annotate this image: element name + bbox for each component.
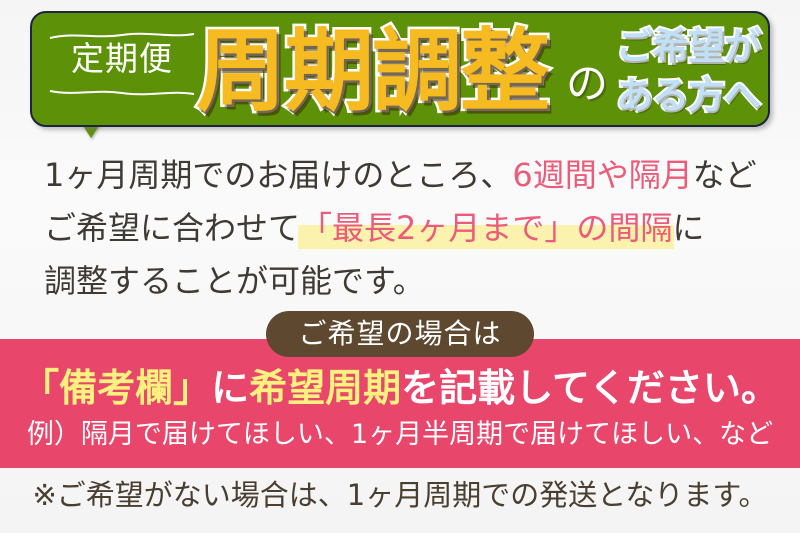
squiggle-bottom-decoration: [48, 88, 196, 96]
request-case-badge: ご希望の場合は: [266, 311, 534, 357]
pink-instruction-section: 「備考欄」に希望周期を記載してください。 例）隔月で届けてほしい、1ヶ月半周期で…: [0, 339, 800, 468]
intro-line1-prefix: 1ヶ月周期でのお届けのところ、: [44, 156, 512, 194]
pink-main-instruction: 「備考欄」に希望周期を記載してください。: [0, 366, 800, 410]
pink-example-text: 例）隔月で届けてほしい、1ヶ月半周期で届けてほしい、など: [0, 419, 800, 451]
header-title: 周期調整: [196, 22, 548, 122]
intro-line-3: 調整することが可能です。: [44, 263, 425, 299]
header-wish-line-2: ある方へ: [616, 71, 781, 120]
intro-line-2: ご希望に合わせて「最長2ヶ月まで」の間隔に: [44, 210, 704, 246]
footer-note: ※ご希望がない場合は、1ヶ月周期での発送となります。: [0, 478, 800, 512]
header-particle: の: [566, 62, 608, 106]
subscription-label: 定期便: [52, 42, 192, 75]
header-wish-line-1: ご希望が: [616, 22, 781, 71]
pink-particle-ni: に: [211, 366, 249, 410]
desired-cycle-label: 希望周期: [249, 366, 401, 410]
intro-line1-accent: 6週間や隔月: [512, 156, 692, 194]
pink-instruction-suffix: を記載してください。: [401, 366, 779, 410]
intro-line2-highlighted-accent: 「最長2ヶ月まで」の間隔: [300, 210, 672, 246]
intro-line-1: 1ヶ月周期でのお届けのところ、6週間や隔月など: [44, 157, 757, 193]
intro-paragraph: 1ヶ月周期でのお届けのところ、6週間や隔月など ご希望に合わせて「最長2ヶ月まで…: [0, 143, 800, 303]
subscription-label-text: 定期便: [52, 42, 192, 75]
remarks-field-label: 「備考欄」: [21, 366, 211, 410]
header-wish-block: ご希望が ある方へ: [616, 22, 781, 120]
intro-line2-prefix: ご希望に合わせて: [44, 209, 300, 247]
intro-line1-suffix: など: [693, 156, 757, 194]
intro-line2-suffix: に: [672, 209, 704, 247]
promotional-banner: 定期便 周期調整 の ご希望が ある方へ 1ヶ月周期でのお届けのところ、6週間や…: [0, 0, 800, 533]
header-section: 定期便 周期調整 の ご希望が ある方へ: [0, 0, 800, 140]
